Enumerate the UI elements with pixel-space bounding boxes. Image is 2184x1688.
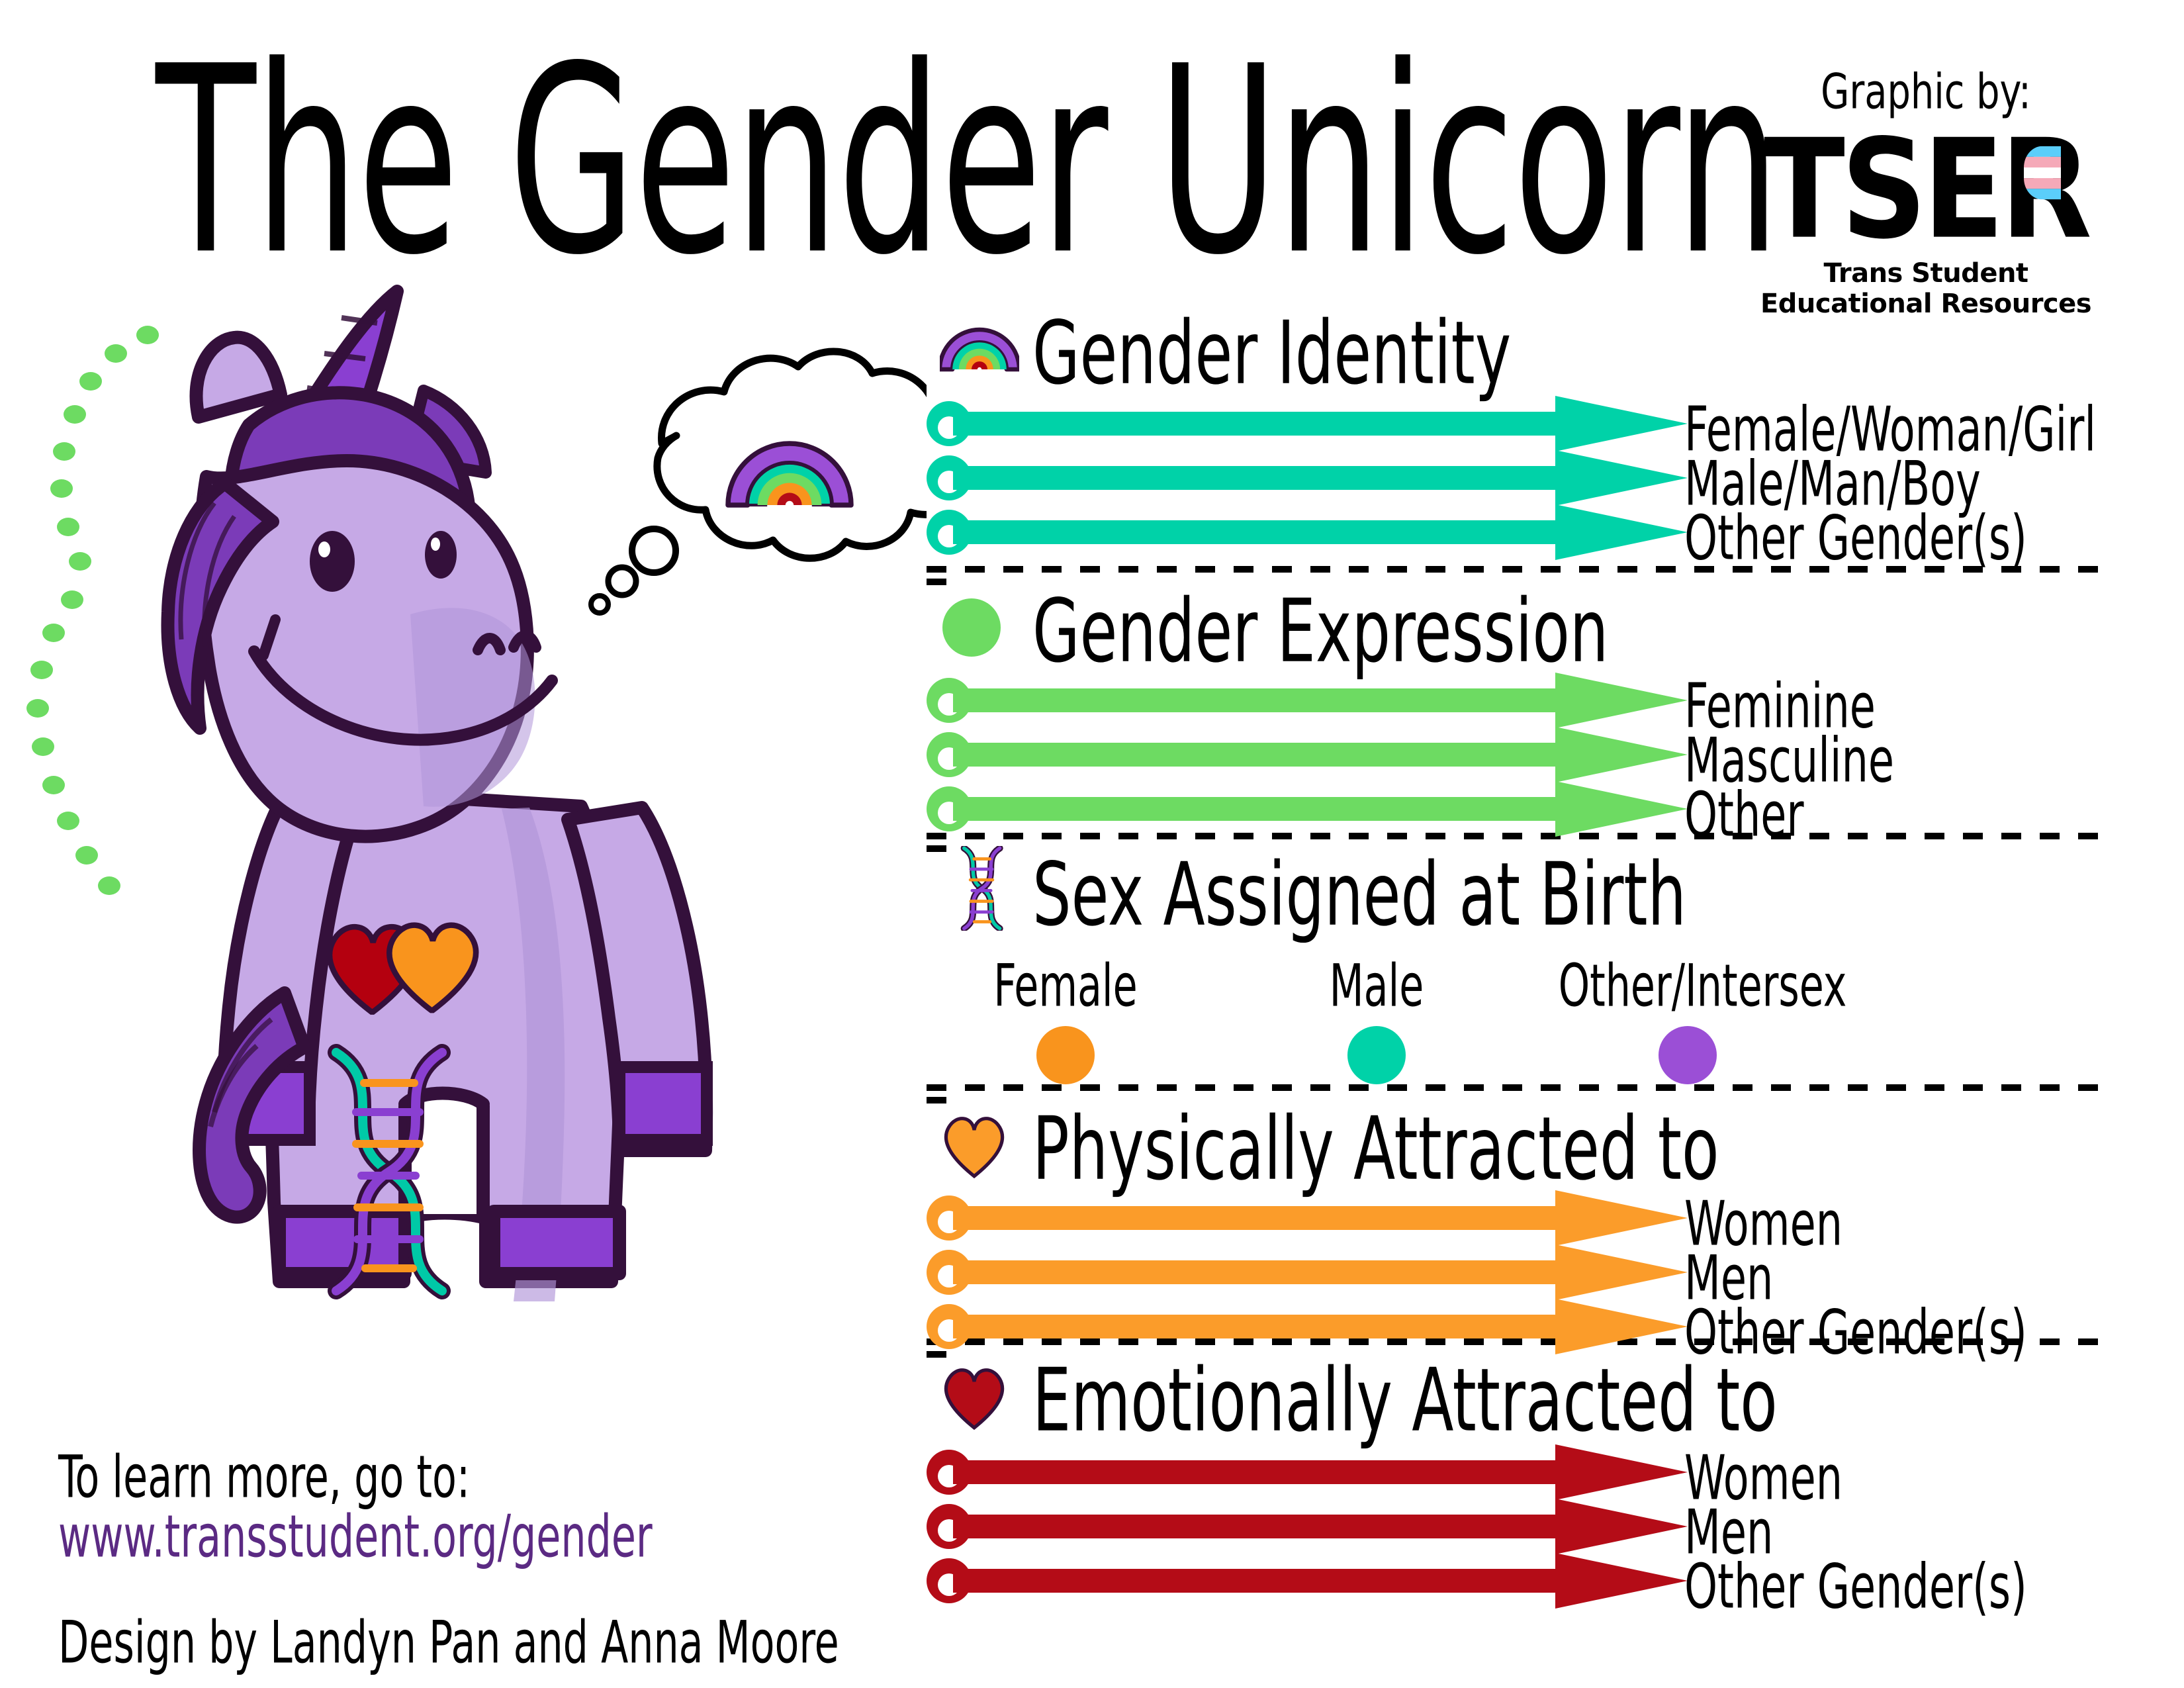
spectrum-arrow[interactable]: Women bbox=[927, 1446, 2144, 1499]
spectrum-arrow[interactable]: Feminine bbox=[927, 674, 2144, 727]
arrow-shaft bbox=[953, 1260, 1555, 1284]
arrow-head bbox=[1555, 450, 1688, 506]
unicorn-eye-left bbox=[310, 531, 355, 592]
sex-option-dot bbox=[1036, 1026, 1095, 1084]
arrow-shaft bbox=[953, 1206, 1555, 1230]
decorative-dot bbox=[30, 661, 53, 679]
orange-heart-icon bbox=[940, 1111, 1009, 1182]
arrow-head bbox=[1555, 396, 1688, 451]
arrow-head bbox=[1555, 673, 1688, 728]
arrow-head bbox=[1555, 504, 1688, 560]
arrow-head bbox=[1555, 1190, 1688, 1246]
red-heart-icon bbox=[940, 1362, 1009, 1431]
green-circle-icon bbox=[940, 596, 1003, 662]
spectrum-arrow[interactable]: Other bbox=[927, 782, 2144, 835]
sex-option-female[interactable]: Female bbox=[927, 952, 1205, 1084]
learn-more-label: To learn more, go to: bbox=[58, 1443, 470, 1511]
design-credit: Design by Landyn Pan and Anna Moore bbox=[58, 1609, 839, 1676]
sex-option-other-intersex[interactable]: Other/Intersex bbox=[1549, 952, 1827, 1084]
spectrum-label: Other bbox=[1684, 778, 1804, 851]
unicorn-head bbox=[167, 291, 552, 837]
spectrum-arrow[interactable]: Male/Man/Boy bbox=[927, 451, 2144, 504]
dna-icon bbox=[946, 846, 1015, 933]
decorative-dot bbox=[32, 737, 54, 756]
spectrum-arrow[interactable]: Men bbox=[927, 1246, 2144, 1299]
spectrum-arrow[interactable]: Other Gender(s) bbox=[927, 1300, 2144, 1353]
spectrum-arrow[interactable]: Men bbox=[927, 1500, 2144, 1553]
arrow-head bbox=[1555, 1299, 1688, 1354]
thought-bubble-icon bbox=[591, 352, 927, 613]
spectrum-label: Other Gender(s) bbox=[1684, 502, 2027, 574]
section-title: Sex Assigned at Birth bbox=[1032, 845, 1686, 946]
red-heart-icon bbox=[940, 1362, 1009, 1434]
decorative-dot bbox=[26, 699, 49, 718]
arrow-shaft bbox=[953, 1315, 1555, 1338]
rainbow-icon bbox=[940, 320, 1019, 381]
spectrum-label: Other Gender(s) bbox=[1684, 1550, 2027, 1622]
sex-option-label: Other/Intersex bbox=[1559, 952, 1817, 1019]
sex-option-label: Male bbox=[1248, 952, 1506, 1019]
sex-option-dot bbox=[1659, 1026, 1717, 1084]
arrow-head bbox=[1555, 1553, 1688, 1609]
section-divider bbox=[927, 1084, 2144, 1091]
website-link[interactable]: www.transstudent.org/gender bbox=[58, 1503, 653, 1570]
arrow-shaft bbox=[953, 797, 1555, 821]
arrow-shaft bbox=[953, 520, 1555, 544]
decorative-dot bbox=[42, 624, 65, 642]
arrow-shaft bbox=[953, 466, 1555, 490]
section-title: Gender Expression bbox=[1032, 581, 1608, 682]
dna-icon bbox=[946, 846, 1015, 931]
sex-option-label: Female bbox=[936, 952, 1195, 1019]
green-circle-icon bbox=[940, 596, 1003, 659]
arrow-head bbox=[1555, 1444, 1688, 1500]
arrow-shaft bbox=[953, 1515, 1555, 1538]
section-title: Physically Attracted to bbox=[1032, 1099, 1719, 1200]
arrow-shaft bbox=[953, 688, 1555, 712]
decorative-dot bbox=[42, 776, 65, 794]
rainbow-icon bbox=[940, 320, 1019, 379]
page-title: The Gender Unicorn bbox=[156, 20, 1586, 304]
sex-option-dot bbox=[1347, 1026, 1406, 1084]
arrow-head bbox=[1555, 1499, 1688, 1554]
spectrum-arrow[interactable]: Female/Woman/Girl bbox=[927, 397, 2144, 450]
spectrum-arrow[interactable]: Other Gender(s) bbox=[927, 1554, 2144, 1607]
orange-heart-icon bbox=[940, 1111, 1009, 1180]
arrow-shaft bbox=[953, 1460, 1555, 1484]
sex-option-male[interactable]: Male bbox=[1238, 952, 1516, 1084]
spectrum-arrow[interactable]: Other Gender(s) bbox=[927, 506, 2144, 559]
arrow-head bbox=[1555, 781, 1688, 837]
spectrum-arrow[interactable]: Masculine bbox=[927, 728, 2144, 781]
arrow-head bbox=[1555, 727, 1688, 782]
unicorn-eye-right bbox=[425, 531, 457, 579]
arrow-shaft bbox=[953, 1569, 1555, 1593]
gender-unicorn-illustration bbox=[66, 285, 927, 1383]
tser-wordmark: TSER bbox=[1747, 122, 2105, 259]
tser-credit-block: Graphic by: TSER Trans Student Education… bbox=[1747, 63, 2105, 319]
trans-flag-icon bbox=[2024, 146, 2061, 199]
arrow-head bbox=[1555, 1244, 1688, 1300]
spectrum-arrow[interactable]: Women bbox=[927, 1192, 2144, 1244]
arrow-shaft bbox=[953, 412, 1555, 436]
section-title: Gender Identity bbox=[1032, 303, 1511, 404]
arrow-shaft bbox=[953, 743, 1555, 767]
section-title: Emotionally Attracted to bbox=[1032, 1350, 1778, 1452]
